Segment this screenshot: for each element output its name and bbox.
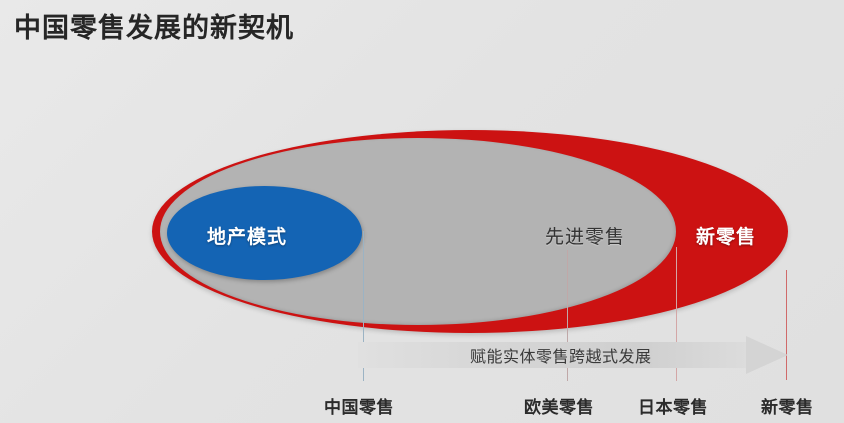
middle-ellipse-label: 先进零售 [545,222,625,249]
axis-label-new-retail: 新零售 [761,393,814,418]
axis-label-japan-retail: 日本零售 [638,393,708,418]
page-title: 中国零售发展的新契机 [14,8,294,48]
slide-canvas: 中国零售发展的新契机 地产模式 先进零售 新零售 赋能实体零售跨越式发展 中国零… [0,0,844,423]
axis-label-europe-us-retail: 欧美零售 [524,393,594,418]
arrow-head-icon [746,336,788,374]
inner-ellipse-label: 地产模式 [207,222,287,249]
outer-ellipse-label: 新零售 [696,222,756,249]
arrow-label: 赋能实体零售跨越式发展 [470,343,652,367]
axis-label-china-retail: 中国零售 [324,393,394,418]
